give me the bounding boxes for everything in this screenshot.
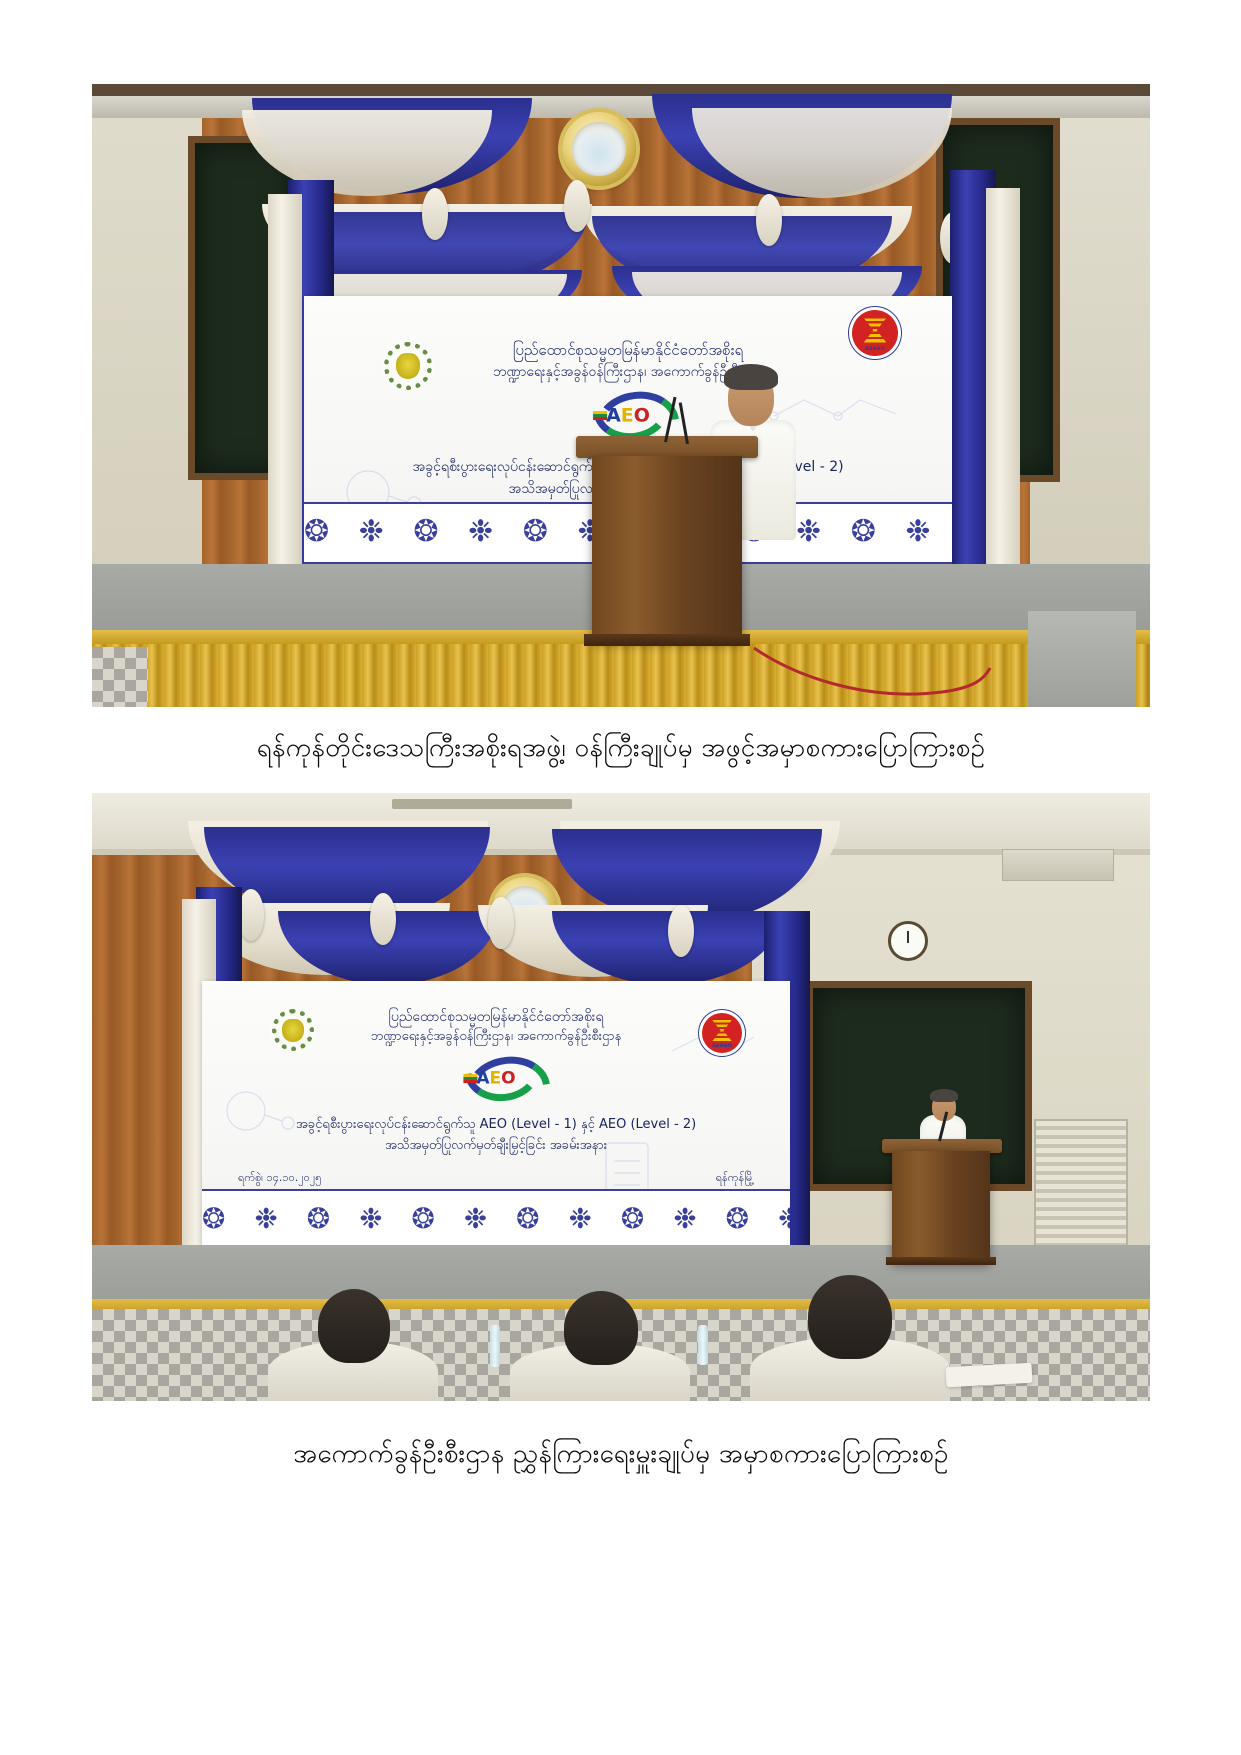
audience-head-2 xyxy=(564,1291,638,1365)
banner-decorative-border-2: ❂ ❉ ❂ ❉ ❂ ❉ ❂ ❉ ❂ ❉ ❂ ❉ ❂ ❉ ❂ ❉ ❂ ❉ ❂ ❉ … xyxy=(202,1189,790,1247)
aeo-logo-icon: AEO xyxy=(589,392,667,440)
drape-knot-center xyxy=(564,180,590,232)
drape-knot-2b xyxy=(370,893,396,945)
banner-line-2-2: ဘဏ္ဍာရေးနှင့်အခွန်ဝန်ကြီးဌာန၊ အကောက်ခွန်… xyxy=(202,1027,790,1047)
banner-heading-2: ပြည်ထောင်စုသမ္မတမြန်မာနိုင်ငံတော်အစိုးရ … xyxy=(202,1007,790,1047)
banner-line-1-2: ပြည်ထောင်စုသမ္မတမြန်မာနိုင်ငံတော်အစိုးရ xyxy=(202,1007,790,1027)
figure-caption-2: အကောက်ခွန်ဦးစီးဌာန ညွှန်ကြားရေးမှူးချုပ်… xyxy=(92,1401,1150,1472)
banner-body-line-2-2: အသိအမှတ်ပြုလက်မှတ်ချီးမြှင့်ခြင်း အခမ်းအ… xyxy=(202,1136,790,1157)
figure-block-1: asean ပြည်ထောင်စုသမ္မတမြန်မာနိုင်ငံတော်အ… xyxy=(92,84,1150,766)
ceiling-light-recess xyxy=(392,799,572,809)
myanmar-flag-icon xyxy=(593,411,607,420)
banner-body-line-1-2: အခွင့်ရစီးပွားရေးလုပ်ငန်းဆောင်ရွက်သူ AEO… xyxy=(202,1115,790,1136)
aeo-wordmark: AEO xyxy=(606,405,650,427)
speaker-hair-2 xyxy=(930,1089,958,1102)
drape-vertical-left-white xyxy=(268,194,302,594)
stage-step-right xyxy=(1028,611,1136,707)
podium-body-1 xyxy=(592,456,742,642)
water-bottle-2 xyxy=(698,1325,708,1365)
figure-block-2: asean ပြည်ထောင်စုသမ္မတမြန်မာနိုင်ငံတော်အ… xyxy=(92,793,1150,1472)
banner-motif-2: ❂ ❉ ❂ ❉ ❂ ❉ ❂ ❉ ❂ ❉ ❂ ❉ ❂ ❉ ❂ ❉ ❂ ❉ ❂ ❉ … xyxy=(202,1197,790,1241)
figure-caption-1: ရန်ကုန်တိုင်းဒေသကြီးအစိုးရအဖွဲ့၊ ဝန်ကြီး… xyxy=(92,707,1150,766)
audience-head-3 xyxy=(808,1275,892,1359)
drape-knot-2d xyxy=(668,905,694,957)
myanmar-flag-icon-2 xyxy=(463,1074,477,1083)
podium-base-1 xyxy=(584,634,750,646)
banner-line-2: ဘဏ္ဍာရေးနှင့်အခွန်ဝန်ကြီးဌာန၊ အကောက်ခွန်… xyxy=(304,362,952,383)
audience-head-1 xyxy=(318,1289,390,1363)
banner-line-1: ပြည်ထောင်စုသမ္မတမြန်မာနိုင်ငံတော်အစိုးရ xyxy=(304,340,952,362)
banner-date-2: ရက်စွဲ၊ ၁၄.၁၀.၂၀၂၅ xyxy=(238,1171,321,1187)
floor-tiles-1 xyxy=(92,647,148,707)
drape-knot-2c xyxy=(488,897,514,949)
photo-ceremony-1: asean ပြည်ထောင်စုသမ္မတမြန်မာနိုင်ငံတော်အ… xyxy=(92,84,1150,707)
drape-knot-right xyxy=(756,194,782,246)
banner-heading-1: ပြည်ထောင်စုသမ္မတမြန်မာနိုင်ငံတော်အစိုးရ … xyxy=(304,340,952,383)
wall-clock-icon xyxy=(888,921,928,961)
event-banner-2: asean ပြည်ထောင်စုသမ္မတမြန်မာနိုင်ငံတော်အ… xyxy=(202,981,790,1247)
aeo-logo-icon-2: AEO xyxy=(460,1057,532,1101)
ac-vent-icon xyxy=(1002,849,1114,881)
document-page: asean ပြည်ထောင်စုသမ္မတမြန်မာနိုင်ငံတော်အ… xyxy=(0,0,1241,1755)
ministry-seal-wall xyxy=(562,112,636,186)
podium-base-2 xyxy=(886,1257,996,1265)
photo-ceremony-2: asean ပြည်ထောင်စုသမ္မတမြန်မာနိုင်ငံတော်အ… xyxy=(92,793,1150,1401)
banner-place-2: ရန်ကုန်မြို့ xyxy=(716,1171,754,1187)
banner-body-2: အခွင့်ရစီးပွားရေးလုပ်ငန်းဆောင်ရွက်သူ AEO… xyxy=(202,1115,790,1157)
drape-vertical-right-white xyxy=(986,188,1020,618)
ceiling-strip xyxy=(92,84,1150,96)
aeo-wordmark-2: AEO xyxy=(476,1069,515,1089)
speaker-hair-1 xyxy=(724,364,778,390)
podium-body-2 xyxy=(892,1151,990,1263)
drape-knot-left xyxy=(422,188,448,240)
water-bottle-1 xyxy=(490,1325,500,1367)
stage-cable xyxy=(752,644,992,707)
